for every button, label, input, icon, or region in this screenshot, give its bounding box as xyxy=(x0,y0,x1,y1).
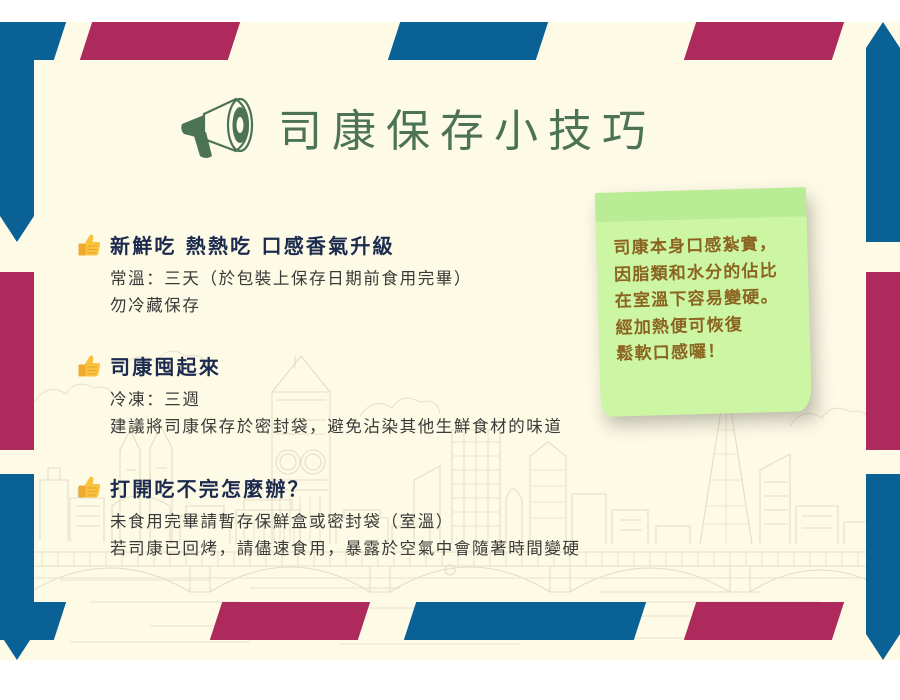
border-stripe-right-3 xyxy=(866,474,900,660)
megaphone-icon xyxy=(178,94,264,160)
page-title: 司康保存小技巧 xyxy=(278,95,656,159)
thumbs-up-icon xyxy=(78,475,101,499)
border-stripe-bottom-1 xyxy=(210,602,370,640)
sticky-note: 司康本身口感紮實， 因脂類和水分的佔比 在室溫下容易變硬。 經加熱便可恢復 鬆軟… xyxy=(595,187,816,421)
border-stripe-top-1 xyxy=(80,22,240,60)
sticky-note-line: 在室溫下容易變硬。 xyxy=(615,283,804,315)
tip-body: 未食用完畢請暫存保鮮盒或密封袋（室溫） 若司康已回烤，請儘速食用，暴露於空氣中會… xyxy=(78,509,718,562)
border-stripe-right-1 xyxy=(866,22,900,242)
border-stripe-left-2 xyxy=(0,272,34,450)
border-stripe-top-3 xyxy=(684,22,844,60)
tip-title: 新鮮吃 熱熱吃 口感香氣升級 xyxy=(110,230,395,259)
thumbs-up-icon xyxy=(78,233,101,257)
tip-line: 未食用完畢請暫存保鮮盒或密封袋（室溫） xyxy=(110,509,718,536)
border-stripe-bottom-2 xyxy=(404,602,646,640)
thumbs-up-icon xyxy=(78,354,101,378)
tip-heading-row: 打開吃不完怎麼辦？ xyxy=(78,473,718,502)
border-stripe-right-2 xyxy=(866,272,900,450)
poster: 司康保存小技巧 新鮮吃 熱熱吃 口感香氣升級 常溫：三天（於包裝上 xyxy=(0,0,900,700)
page-title-row: 司康保存小技巧 xyxy=(178,94,656,160)
poster-card: 司康保存小技巧 新鮮吃 熱熱吃 口感香氣升級 常溫：三天（於包裝上 xyxy=(0,22,900,660)
sticky-note-line: 鬆軟口感囉！ xyxy=(616,336,805,368)
border-stripe-top-2 xyxy=(388,22,548,60)
sticky-note-text: 司康本身口感紮實， 因脂類和水分的佔比 在室溫下容易變硬。 經加熱便可恢復 鬆軟… xyxy=(613,230,805,368)
tip-section: 打開吃不完怎麼辦？ 未食用完畢請暫存保鮮盒或密封袋（室溫） 若司康已回烤，請儘速… xyxy=(78,473,718,562)
tip-title: 司康囤起來 xyxy=(110,351,221,380)
border-stripe-bottom-3 xyxy=(684,602,844,640)
border-stripe-left-3 xyxy=(0,474,34,660)
border-stripe-left-1 xyxy=(0,22,34,242)
tip-title: 打開吃不完怎麼辦？ xyxy=(110,473,310,502)
tip-line: 若司康已回烤，請儘速食用，暴露於空氣中會隨著時間變硬 xyxy=(110,536,718,563)
